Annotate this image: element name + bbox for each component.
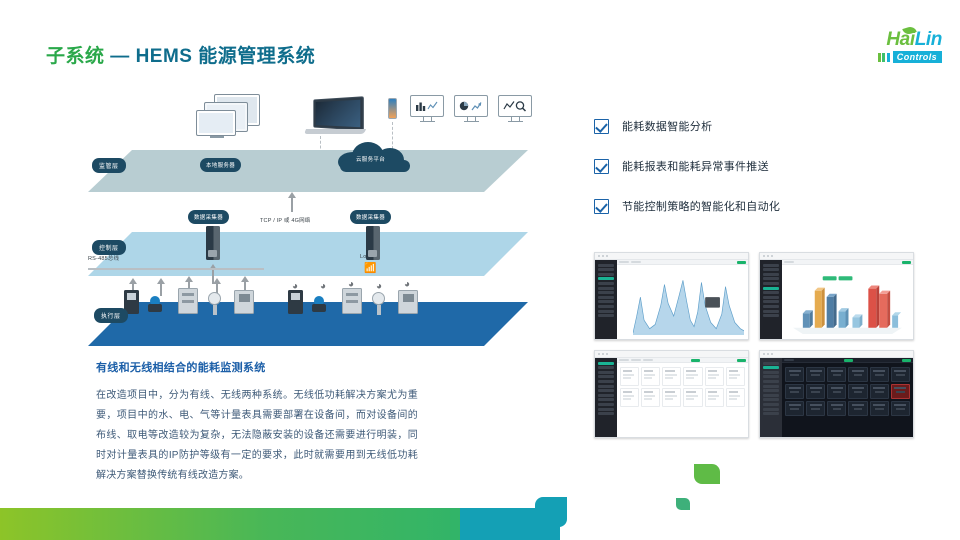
- check-icon-3[interactable]: [594, 199, 609, 214]
- uplink-network-label: TCP / IP 或 4G网络: [260, 216, 310, 224]
- layer-management-label: 监管层: [92, 158, 126, 173]
- thumb-body-2: [760, 260, 913, 339]
- thumb-titlebar-1: [595, 253, 748, 260]
- thumb-content-2: [782, 260, 913, 339]
- layer-control-label: 控制层: [92, 240, 126, 255]
- thumb-body-4: [760, 358, 913, 437]
- heat-meter-icon: [234, 290, 254, 314]
- dashboard-monitor-icon-1: [410, 95, 444, 123]
- thumb-titlebar-4: [760, 351, 913, 358]
- dashboard-monitor-icon-3: [498, 95, 532, 123]
- feature-checklist: 能耗数据智能分析 能耗报表和能耗异常事件推送 节能控制策略的智能化和自动化: [594, 108, 780, 228]
- gas-meter-icon: [178, 288, 198, 314]
- thumbnail-device-monitor-dark[interactable]: [759, 350, 914, 438]
- rs485-bus-line: [88, 268, 264, 270]
- check-icon-2[interactable]: [594, 159, 609, 174]
- laptop-icon: [310, 98, 365, 134]
- layer-execution-label: 执行层: [94, 308, 128, 323]
- thumb-card-grid: [617, 363, 748, 411]
- checklist-label-3: 节能控制策略的智能化和自动化: [622, 198, 780, 214]
- slide-root: 子系统 — HEMS 能源管理系统 HaiLin Controls: [0, 0, 960, 540]
- logo-wordmark: HaiLin: [824, 30, 942, 50]
- thumb-sidebar-1: [595, 260, 617, 339]
- checklist-label-2: 能耗报表和能耗异常事件推送: [622, 158, 769, 174]
- page-title-green: 子系统: [46, 46, 105, 67]
- data-collector-right-icon: [366, 226, 380, 260]
- uplink-arrow-head: [288, 192, 296, 198]
- decor-teal-rounded-block: [535, 497, 567, 527]
- cloud-platform-label: 云服务平台: [350, 152, 391, 166]
- checklist-label-1: 能耗数据智能分析: [622, 118, 712, 134]
- checklist-item-2[interactable]: 能耗报表和能耗异常事件推送: [594, 148, 780, 184]
- thumb-content-3: [617, 358, 748, 437]
- gas-meter-icon-2: [342, 288, 362, 314]
- signal-bars-icon: [878, 53, 890, 62]
- smartphone-icon: [388, 98, 397, 119]
- logo-subline: Controls: [824, 51, 942, 63]
- checklist-item-1[interactable]: 能耗数据智能分析: [594, 108, 780, 144]
- thumb-sidebar-2: [760, 260, 782, 339]
- uplink-arrow-stem: [291, 198, 293, 212]
- decor-green-gradient-bar: [0, 508, 480, 540]
- thumb-body-1: [595, 260, 748, 339]
- collector-right-label: 数据采集器: [350, 210, 391, 224]
- thumbnail-energy-trend-chart[interactable]: [594, 252, 749, 340]
- pressure-gauge-icon-2: [372, 292, 385, 315]
- screenshot-thumbnails: [594, 252, 914, 438]
- hailin-logo: HaiLin Controls: [824, 30, 942, 68]
- local-server-label: 本地服务器: [200, 158, 241, 172]
- local-server-monitors-icon: [196, 94, 266, 142]
- lora-antenna-icon: 📶: [364, 264, 376, 274]
- heat-meter-icon-2: [398, 290, 418, 314]
- thumb-chart-1: [633, 274, 744, 335]
- body-paragraph: 在改造项目中，分为有线、无线两种系统。无线低功耗解决方案尤为重要，项目中的水、电…: [96, 386, 418, 486]
- page-title: 子系统 — HEMS 能源管理系统: [46, 41, 315, 68]
- body-heading: 有线和无线相结合的能耗监测系统: [96, 359, 266, 375]
- dashboard-monitor-icon-2: [454, 95, 488, 123]
- thumb-tile-grid: [782, 363, 913, 420]
- thumb-body-3: [595, 358, 748, 437]
- thumbnail-3d-bar-chart[interactable]: [759, 252, 914, 340]
- electric-meter-icon-2: [288, 290, 303, 314]
- check-icon-1[interactable]: [594, 119, 609, 134]
- thumb-sidebar-4: [760, 358, 782, 437]
- thumb-content-1: [617, 260, 748, 339]
- decor-green-leaf-large: [694, 464, 720, 484]
- thumb-titlebar-3: [595, 351, 748, 358]
- thumbnail-device-card-list[interactable]: [594, 350, 749, 438]
- data-collector-left-icon: [206, 226, 220, 260]
- thumb-content-4: [782, 358, 913, 437]
- page-title-blue: — HEMS 能源管理系统: [110, 46, 315, 67]
- water-valve-icon-2: [314, 296, 326, 312]
- collector-left-label: 数据采集器: [188, 210, 229, 224]
- thumb-chart-2: [785, 268, 910, 336]
- architecture-diagram: 云服务平台 监管层 本地服务器 TCP / IP 或 4G网络 控制层 数据采集…: [88, 86, 528, 348]
- rs485-bus-label: RS-485总线: [88, 254, 119, 262]
- logo-lin-text: Lin: [915, 29, 942, 50]
- water-valve-icon: [150, 296, 162, 312]
- logo-controls-text: Controls: [893, 51, 942, 63]
- layer-management: [88, 150, 528, 192]
- thumb-sidebar-3: [595, 358, 617, 437]
- decor-green-leaf-small: [676, 498, 690, 510]
- pressure-gauge-icon: [208, 292, 221, 315]
- checklist-item-3[interactable]: 节能控制策略的智能化和自动化: [594, 188, 780, 224]
- thumb-titlebar-2: [760, 253, 913, 260]
